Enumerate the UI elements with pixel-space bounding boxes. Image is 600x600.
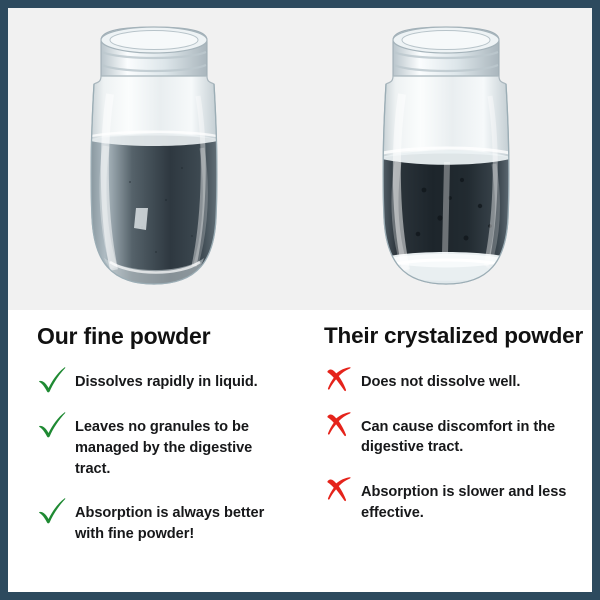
check-icon bbox=[37, 497, 68, 524]
bullet-list-ours: Dissolves rapidly in liquid. Leaves no g… bbox=[37, 370, 290, 545]
column-title-ours: Our fine powder bbox=[37, 324, 290, 349]
comparison-card: Our fine powder Dissolves rapidly in liq… bbox=[0, 0, 600, 600]
bullet-text: Can cause discomfort in the digestive tr… bbox=[361, 415, 586, 458]
jar-slot-left bbox=[8, 8, 300, 310]
mason-jar-undissolved-image bbox=[362, 22, 530, 294]
comparison-panel: Our fine powder Dissolves rapidly in liq… bbox=[8, 310, 592, 592]
jar-slot-right bbox=[300, 8, 592, 310]
cross-icon bbox=[324, 411, 355, 438]
cross-icon bbox=[324, 476, 355, 503]
list-item: Leaves no granules to be managed by the … bbox=[37, 415, 290, 479]
list-item: Absorption is always better with fine po… bbox=[37, 501, 290, 544]
cross-icon bbox=[324, 366, 355, 393]
bullet-text: Does not dissolve well. bbox=[361, 370, 520, 393]
column-ours: Our fine powder Dissolves rapidly in liq… bbox=[8, 310, 300, 592]
check-icon bbox=[37, 366, 68, 393]
bullet-list-theirs: Does not dissolve well. Can cause discom… bbox=[324, 370, 586, 524]
list-item: Does not dissolve well. bbox=[324, 370, 586, 393]
list-item: Dissolves rapidly in liquid. bbox=[37, 370, 290, 393]
bullet-text: Absorption is always better with fine po… bbox=[75, 501, 290, 544]
bullet-text: Dissolves rapidly in liquid. bbox=[75, 370, 258, 393]
mason-jar-dissolved-image bbox=[70, 22, 238, 294]
check-icon bbox=[37, 411, 68, 438]
photo-band bbox=[8, 8, 592, 310]
column-title-theirs: Their crystalized powder bbox=[324, 324, 586, 349]
column-theirs: Their crystalized powder Does not dissol… bbox=[300, 310, 592, 592]
list-item: Absorption is slower and less effective. bbox=[324, 480, 586, 523]
list-item: Can cause discomfort in the digestive tr… bbox=[324, 415, 586, 458]
bullet-text: Leaves no granules to be managed by the … bbox=[75, 415, 290, 479]
bullet-text: Absorption is slower and less effective. bbox=[361, 480, 586, 523]
